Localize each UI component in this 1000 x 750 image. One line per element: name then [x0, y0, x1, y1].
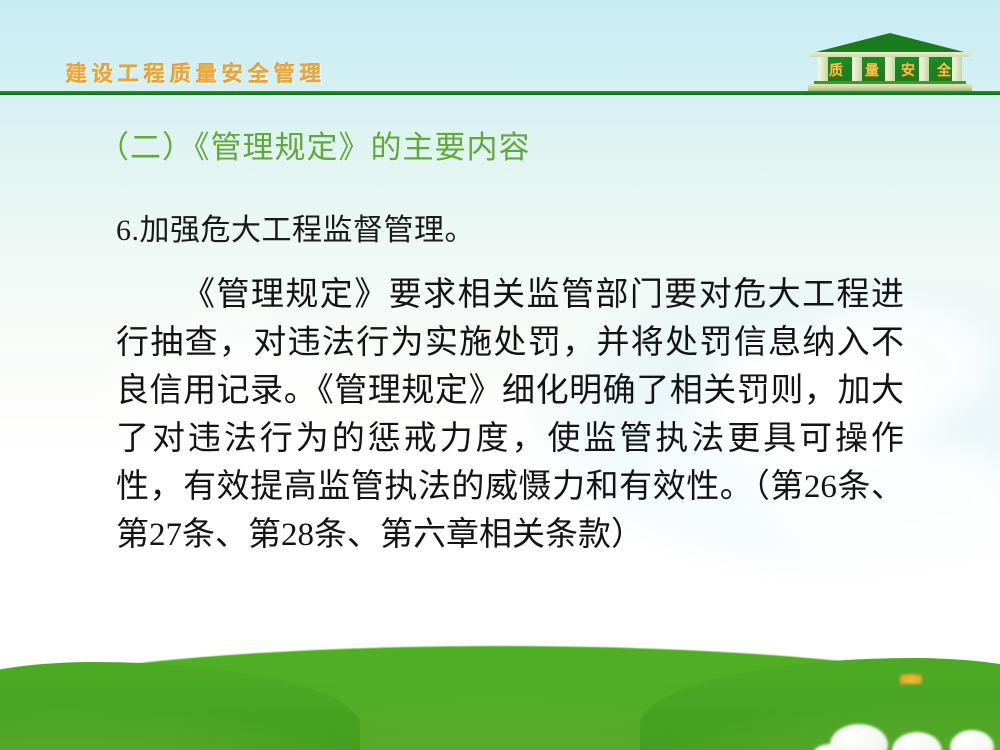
quality-safety-temple-logo: 质 量 安 全	[806, 33, 974, 95]
temple-body	[818, 57, 962, 84]
temple-column	[952, 57, 962, 84]
header-title: 建设工程质量安全管理	[66, 58, 326, 88]
presentation-slide: 建设工程质量安全管理 质 量 安 全 （二）《管理规定》的主要内容 6.加强危大…	[0, 0, 1000, 750]
temple-roof-icon	[812, 33, 968, 53]
body-paragraph: 《管理规定》要求相关监管部门要对危大工程进行抽查，对违法行为实施处罚，并将处罚信…	[0, 249, 1000, 559]
slide-content: （二）《管理规定》的主要内容 6.加强危大工程监督管理。 《管理规定》要求相关监…	[0, 108, 1000, 559]
section-heading: （二）《管理规定》的主要内容	[0, 108, 1000, 167]
temple-column	[919, 57, 929, 84]
flower-decoration	[900, 674, 922, 684]
temple-base	[808, 84, 972, 91]
temple-column	[885, 57, 895, 84]
temple-column	[818, 57, 828, 84]
subheading-item-6: 6.加强危大工程监督管理。	[0, 167, 1000, 249]
temple-column	[852, 57, 862, 84]
